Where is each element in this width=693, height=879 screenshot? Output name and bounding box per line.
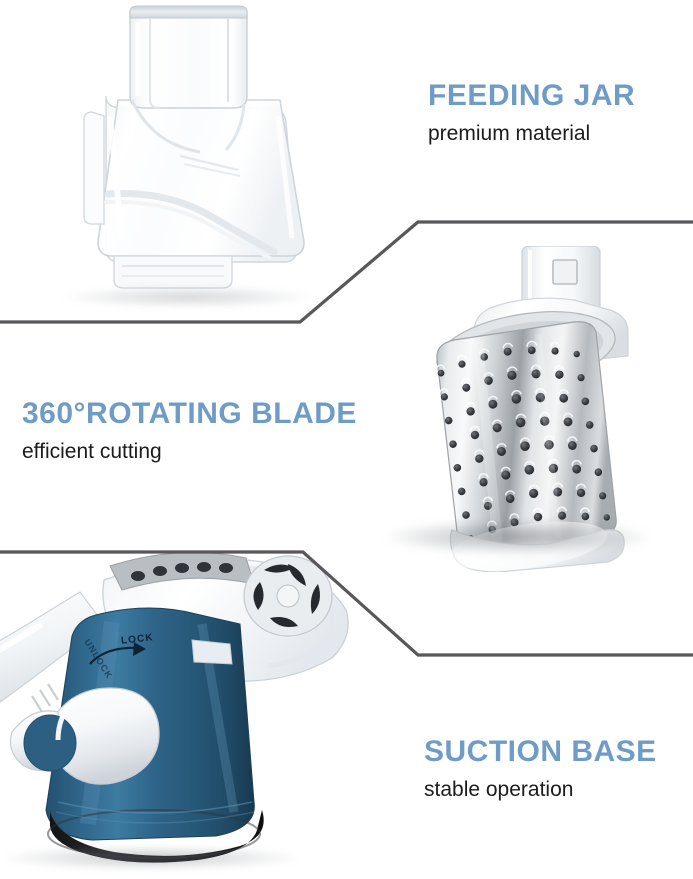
feeding-jar-shadow [62,286,312,308]
callout-feeding-jar: FEEDING JAR premium material [428,80,635,147]
feeding-jar-front-face [98,100,304,256]
callout-subtitle-suction-base: stable operation [424,777,657,803]
suction-base-knob-center [24,715,76,771]
suction-base-knob[interactable] [11,688,160,784]
callout-title-feeding-jar: FEEDING JAR [428,80,635,112]
callout-subtitle-rotating-blade: efficient cutting [22,439,357,465]
rotating-blade-keyway [553,260,577,284]
feeding-jar-rim [130,6,247,18]
product-image-feeding-jar [48,4,340,310]
callout-rotating-blade: 360°ROTATING BLADE efficient cutting [22,398,357,465]
suction-base-shadow [6,846,296,870]
callout-title-rotating-blade: 360°ROTATING BLADE [22,398,357,430]
feeding-jar-illustration [48,4,340,310]
product-image-suction-base: LOCK UNLOCK [0,540,374,879]
product-image-rotating-blade [378,246,678,572]
feeding-jar-foot [114,256,232,288]
callout-suction-base: SUCTION BASE stable operation [424,736,657,803]
callout-subtitle-feeding-jar: premium material [428,121,635,147]
suction-base-illustration [0,540,374,879]
pusher-arm-grip-ridges [32,684,58,712]
rotating-blade-shadow [388,520,648,554]
feeding-jar-chute [130,12,247,108]
product-infographic: LOCK UNLOCK FEEDING JAR premium material… [0,0,693,879]
callout-title-suction-base: SUCTION BASE [424,736,657,768]
feeding-jar-side-flange [84,112,104,224]
suction-base-side-slot [192,640,232,664]
